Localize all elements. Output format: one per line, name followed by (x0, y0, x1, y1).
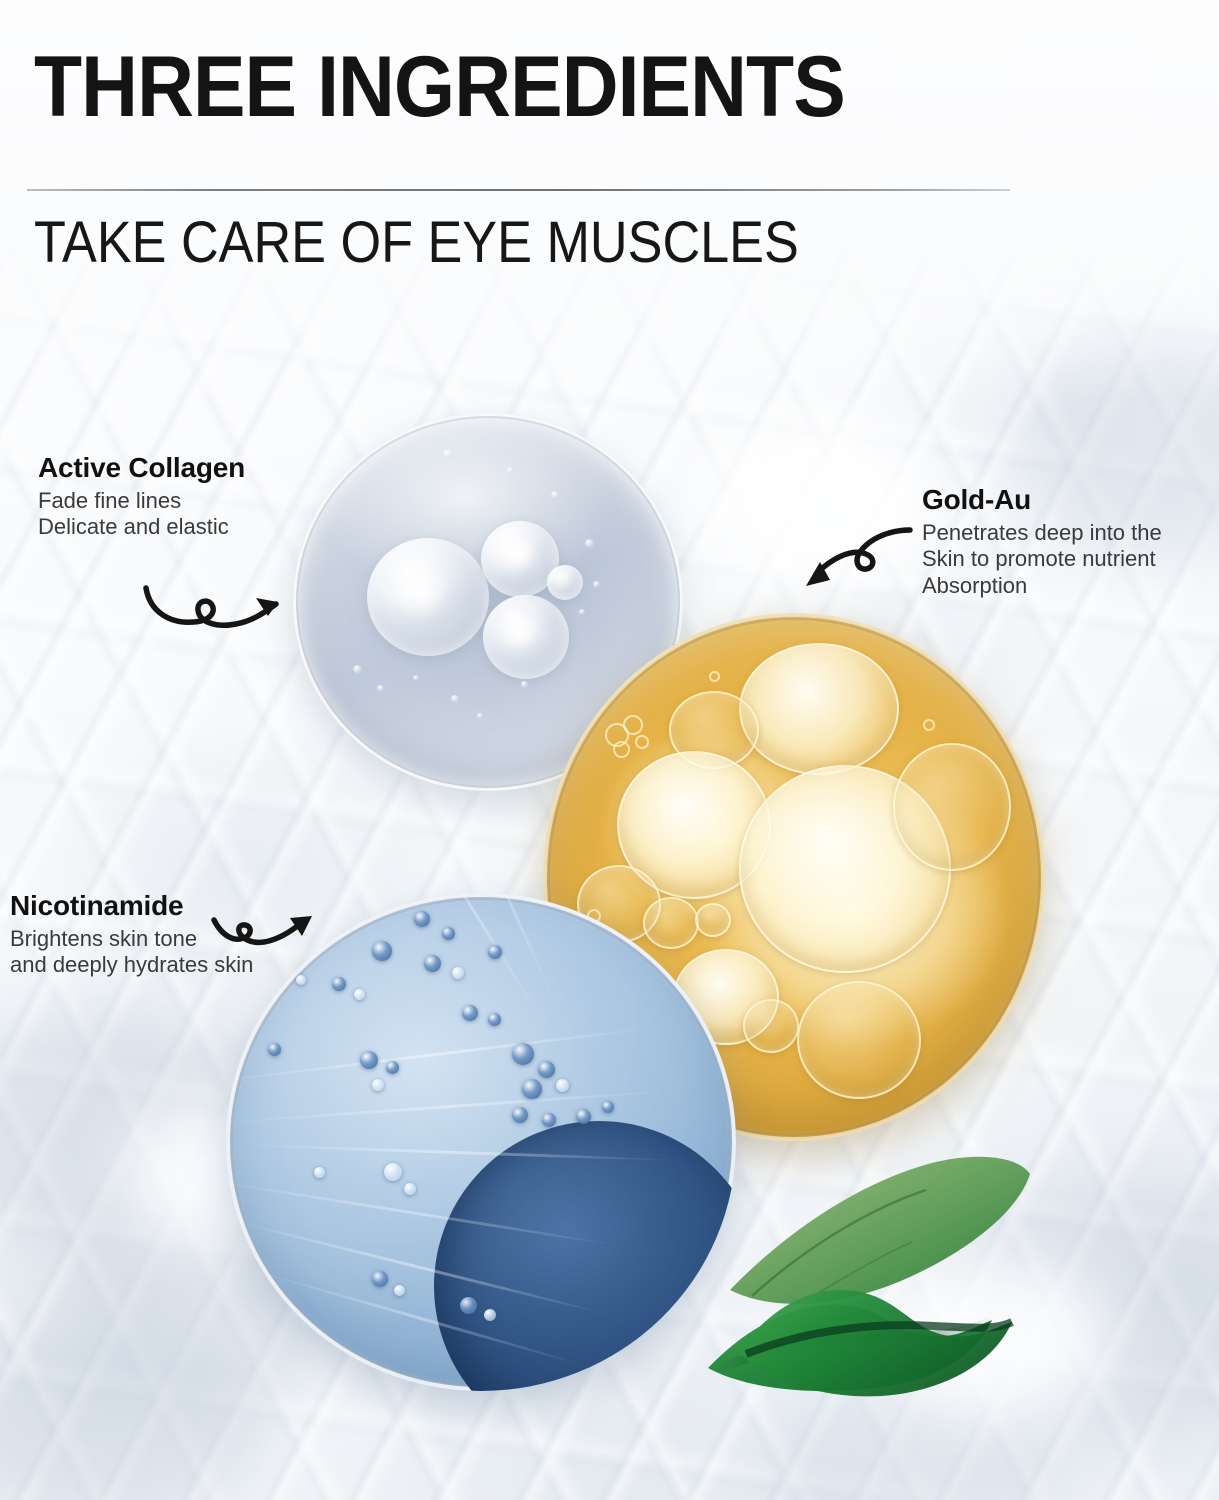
gel-highlight (389, 563, 451, 619)
molecule-bead (360, 1051, 378, 1069)
ingredient-label-gold-au: Gold-Au Penetrates deep into the Skin to… (922, 484, 1162, 599)
oil-bubble-small (709, 671, 720, 682)
molecule-bead (314, 1167, 325, 1178)
micro-droplet (585, 539, 594, 548)
molecule-bead (538, 1061, 555, 1078)
molecule-bead (394, 1285, 405, 1296)
molecule-bead (452, 967, 464, 979)
micro-droplet (353, 665, 362, 674)
micro-droplet (443, 449, 453, 459)
molecule-bead (268, 1043, 281, 1056)
infographic-page: THREE INGREDIENTS TAKE CARE OF EYE MUSCL… (0, 0, 1219, 1500)
oil-bubble-small (613, 741, 630, 758)
molecule-bead (556, 1079, 569, 1092)
molecule-bead (424, 955, 441, 972)
molecule-bead (442, 927, 455, 940)
molecule-bead (404, 1183, 416, 1195)
ingredient-desc-line: Absorption (922, 573, 1162, 599)
micro-droplet (507, 467, 514, 474)
ingredient-name: Gold-Au (922, 484, 1162, 516)
oil-bubble (739, 643, 899, 775)
curly-arrow-down-right-icon (210, 898, 330, 978)
oil-bubble (695, 903, 731, 937)
ingredient-desc-line: Delicate and elastic (38, 514, 245, 540)
molecule-bead (460, 1297, 477, 1314)
algae-leaf-front (736, 1240, 1026, 1410)
oil-bubble-small (923, 719, 935, 731)
oil-bubble (743, 999, 799, 1053)
micro-droplet (551, 491, 559, 499)
ingredient-desc-line: Penetrates deep into the (922, 520, 1162, 546)
molecule-bead (332, 977, 346, 991)
oil-bubble-small (635, 735, 649, 749)
molecule-bead (602, 1101, 614, 1113)
ingredient-name: Active Collagen (38, 452, 245, 484)
molecule-bead (372, 941, 392, 961)
molecule-bead (542, 1113, 556, 1127)
micro-droplet (579, 609, 585, 615)
molecule-bead (414, 911, 430, 927)
molecule-bead (354, 989, 365, 1000)
curly-arrow-left-icon (786, 524, 916, 616)
molecule-bead (512, 1043, 534, 1065)
gel-bubble (547, 565, 583, 600)
ingredient-desc-line: Skin to promote nutrient (922, 546, 1162, 572)
micro-droplet (593, 581, 600, 588)
micro-droplet (377, 685, 384, 692)
molecule-bead (488, 1013, 501, 1026)
gel-highlight (497, 537, 537, 571)
page-title: THREE INGREDIENTS (34, 44, 845, 130)
micro-droplet (477, 713, 483, 719)
molecule-bead (372, 1271, 388, 1287)
curly-arrow-right-icon (140, 560, 290, 650)
page-subtitle: TAKE CARE OF EYE MUSCLES (34, 214, 799, 272)
molecule-bead (384, 1163, 402, 1181)
molecule-bead (488, 945, 502, 959)
molecule-bead (576, 1109, 591, 1124)
molecule-bead (512, 1107, 528, 1123)
molecule-bead (386, 1061, 399, 1074)
molecule-bead (522, 1079, 542, 1099)
micro-droplet (521, 681, 528, 688)
oil-bubble-small (623, 715, 643, 735)
micro-droplet (413, 675, 419, 681)
oil-bubble (893, 743, 1011, 871)
molecule-bead (484, 1309, 496, 1321)
molecule-bead (372, 1079, 384, 1091)
molecule-bead (462, 1005, 478, 1021)
ingredient-desc-line: Fade fine lines (38, 488, 245, 514)
ingredient-label-active-collagen: Active Collagen Fade fine lines Delicate… (38, 452, 245, 541)
oil-bubble (643, 897, 699, 949)
oil-bubble (797, 981, 921, 1099)
gel-highlight (499, 613, 541, 649)
header-divider (27, 189, 1010, 191)
micro-droplet (451, 695, 459, 703)
